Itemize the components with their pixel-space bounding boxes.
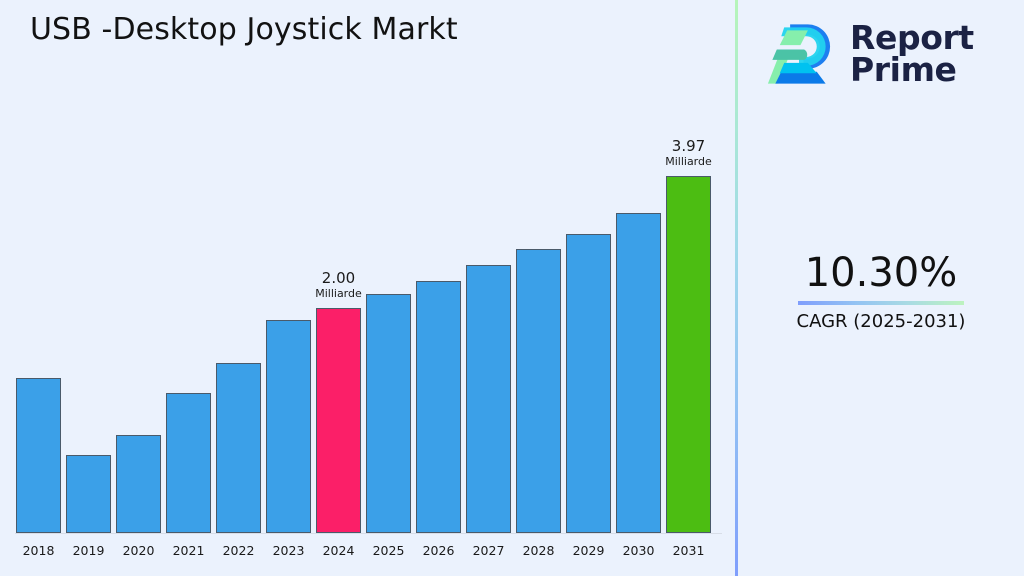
bar-rect-2028[interactable] — [516, 249, 561, 533]
bar-value-unit-2031: Milliarde — [665, 156, 712, 168]
bar-value-number-2031: 3.97 — [665, 139, 712, 155]
brand-panel: Report Prime 10.30% CAGR (2025-2031) — [738, 0, 1024, 576]
x-tick-label-2023: 2023 — [266, 543, 311, 558]
logo-line-2: Prime — [850, 54, 974, 86]
cagr-block: 10.30% CAGR (2025-2031) — [738, 252, 1024, 332]
x-tick-label-2031: 2031 — [666, 543, 711, 558]
chart-panel: USB -Desktop Joystick Markt 201820192020… — [0, 0, 736, 576]
cagr-divider-rule — [798, 301, 964, 305]
bar-2020[interactable] — [116, 435, 161, 533]
bar-2029[interactable] — [566, 234, 611, 533]
bar-rect-2031[interactable] — [666, 176, 711, 533]
bar-rect-2019[interactable] — [66, 455, 111, 533]
bar-rect-2020[interactable] — [116, 435, 161, 533]
bar-rect-2024[interactable] — [316, 308, 361, 533]
x-tick-label-2024: 2024 — [316, 543, 361, 558]
bar-value-label-2024: 2.00Milliarde — [315, 271, 362, 300]
bar-rect-2023[interactable] — [266, 320, 311, 533]
x-tick-label-2021: 2021 — [166, 543, 211, 558]
x-tick-label-2026: 2026 — [416, 543, 461, 558]
x-tick-label-2030: 2030 — [616, 543, 661, 558]
x-tick-label-2027: 2027 — [466, 543, 511, 558]
bar-2027[interactable] — [466, 265, 511, 533]
bar-rect-2018[interactable] — [16, 378, 61, 533]
bar-value-label-2031: 3.97Milliarde — [665, 139, 712, 168]
bar-2021[interactable] — [166, 393, 211, 533]
x-tick-label-2028: 2028 — [516, 543, 561, 558]
bar-value-number-2024: 2.00 — [315, 271, 362, 287]
bar-2019[interactable] — [66, 455, 111, 533]
x-tick-label-2018: 2018 — [16, 543, 61, 558]
report-prime-logo[interactable]: Report Prime — [762, 12, 1006, 96]
x-tick-label-2029: 2029 — [566, 543, 611, 558]
x-tick-label-2019: 2019 — [66, 543, 111, 558]
bar-rect-2026[interactable] — [416, 281, 461, 533]
bar-chart-plot-area: 2018201920202021202220232.00Milliarde202… — [0, 0, 736, 576]
x-tick-label-2020: 2020 — [116, 543, 161, 558]
bar-2025[interactable] — [366, 294, 411, 533]
x-axis-line — [15, 533, 722, 534]
logo-wordmark: Report Prime — [850, 22, 974, 86]
x-tick-label-2025: 2025 — [366, 543, 411, 558]
bar-2028[interactable] — [516, 249, 561, 533]
bar-2023[interactable] — [266, 320, 311, 533]
infographic-root: USB -Desktop Joystick Markt 201820192020… — [0, 0, 1024, 576]
bar-2031[interactable]: 3.97Milliarde — [666, 176, 711, 533]
bar-rect-2025[interactable] — [366, 294, 411, 533]
bar-rect-2021[interactable] — [166, 393, 211, 533]
bar-rect-2027[interactable] — [466, 265, 511, 533]
bar-2018[interactable] — [16, 378, 61, 533]
cagr-value: 10.30% — [738, 252, 1024, 294]
bar-rect-2022[interactable] — [216, 363, 261, 533]
cagr-caption: CAGR (2025-2031) — [738, 311, 1024, 332]
report-prime-mark-icon — [762, 17, 836, 91]
bar-rect-2029[interactable] — [566, 234, 611, 533]
bar-rect-2030[interactable] — [616, 213, 661, 533]
bar-2026[interactable] — [416, 281, 461, 533]
bar-value-unit-2024: Milliarde — [315, 288, 362, 300]
bar-2030[interactable] — [616, 213, 661, 533]
bar-2022[interactable] — [216, 363, 261, 533]
x-tick-label-2022: 2022 — [216, 543, 261, 558]
bar-2024[interactable]: 2.00Milliarde — [316, 308, 361, 533]
